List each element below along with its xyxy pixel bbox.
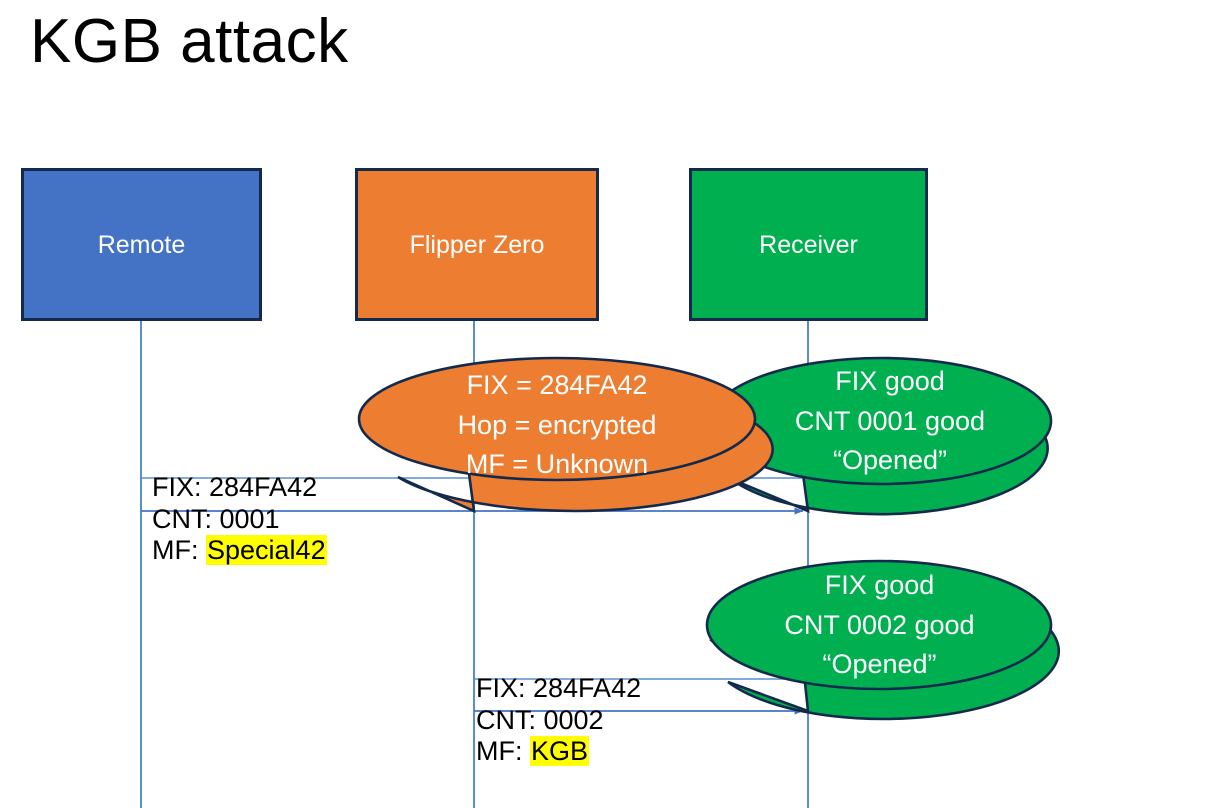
actor-box-remote[interactable]: Remote xyxy=(21,168,262,321)
callout-receiver-2-shape xyxy=(707,561,1059,719)
message-2-cnt-prefix: CNT: xyxy=(476,705,544,735)
message-2-mf-value-highlight: KGB xyxy=(530,736,589,766)
message-1-mf-prefix: MF: xyxy=(152,535,206,565)
message-2-line-fix: FIX: 284FA42 xyxy=(476,673,641,705)
message-1-label: FIX: 284FA42 CNT: 0001 MF: Special42 xyxy=(152,472,327,567)
actor-label-receiver: Receiver xyxy=(759,230,858,260)
actor-label-flipper: Flipper Zero xyxy=(410,230,545,260)
message-2-line-mf: MF: KGB xyxy=(476,736,641,768)
actor-label-remote: Remote xyxy=(98,230,186,260)
callout-flipper-shape xyxy=(359,358,773,511)
message-1-line-mf: MF: Special42 xyxy=(152,535,327,567)
message-2-label: FIX: 284FA42 CNT: 0002 MF: KGB xyxy=(476,673,641,768)
message-2-cnt-value: 0002 xyxy=(544,705,604,735)
message-1-mf-value-highlight: Special42 xyxy=(206,535,327,565)
actor-box-flipper[interactable]: Flipper Zero xyxy=(355,168,599,321)
message-1-line-cnt: CNT: 0001 xyxy=(152,504,327,536)
message-1-line-fix: FIX: 284FA42 xyxy=(152,472,327,504)
actor-box-receiver[interactable]: Receiver xyxy=(689,168,928,321)
message-2-line-cnt: CNT: 0002 xyxy=(476,705,641,737)
message-1-cnt-value: 0001 xyxy=(220,504,280,534)
message-2-mf-prefix: MF: xyxy=(476,736,530,766)
message-1-cnt-prefix: CNT: xyxy=(152,504,220,534)
